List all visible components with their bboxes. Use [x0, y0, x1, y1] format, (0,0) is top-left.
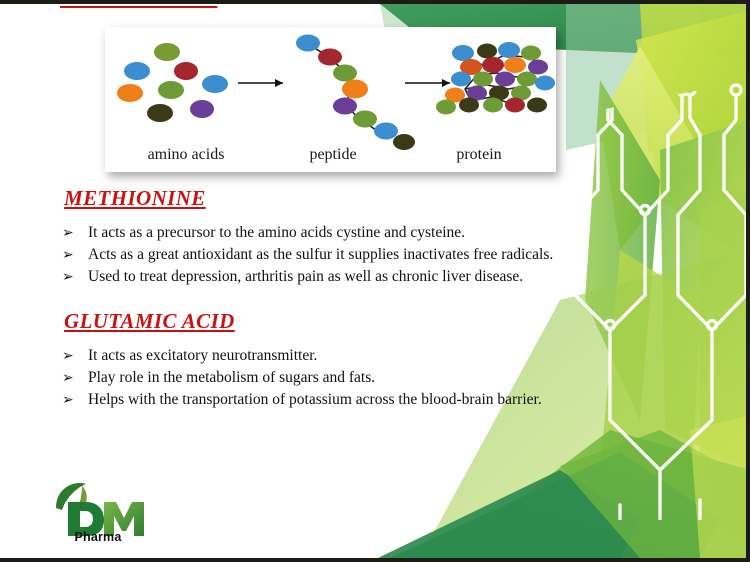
- list-item: ➢ Play role in the metabolism of sugars …: [62, 368, 542, 389]
- slide: AMINO ACIDS: [0, 0, 750, 562]
- arrow-right-2: [405, 79, 450, 87]
- bullet-list-glutamic-acid: ➢ It acts as excitatory neurotransmitter…: [62, 346, 542, 412]
- list-item: ➢ It acts as excitatory neurotransmitter…: [62, 346, 542, 367]
- list-item: ➢ Acts as a great antioxidant as the sul…: [62, 245, 553, 266]
- logo-dm-pharma: Pharma: [38, 478, 158, 552]
- list-item: ➢ It acts as a precursor to the amino ac…: [62, 223, 553, 244]
- bullet-text: Acts as a great antioxidant as the sulfu…: [88, 245, 553, 265]
- section-title-glutamic-acid: GLUTAMIC ACID: [64, 309, 235, 334]
- top-border: [0, 0, 750, 4]
- list-item: ➢ Used to treat depression, arthritis pa…: [62, 267, 553, 288]
- arrow-bullet-icon: ➢: [62, 347, 88, 367]
- peptide-beads: [296, 35, 415, 151]
- logo-wordmark: Pharma: [38, 530, 158, 544]
- right-border: [746, 0, 750, 562]
- caption-peptide: peptide: [263, 146, 403, 164]
- bullet-text: It acts as excitatory neurotransmitter.: [88, 346, 317, 366]
- caption-protein: protein: [405, 146, 553, 164]
- list-item: ➢ Helps with the transportation of potas…: [62, 390, 542, 411]
- arrow-bullet-icon: ➢: [62, 369, 88, 389]
- arrow-bullet-icon: ➢: [62, 268, 88, 288]
- bullet-text: Used to treat depression, arthritis pain…: [88, 267, 523, 287]
- section-title-methionine: METHIONINE: [64, 186, 206, 211]
- bullet-list-methionine: ➢ It acts as a precursor to the amino ac…: [62, 223, 553, 289]
- arrow-bullet-icon: ➢: [62, 224, 88, 244]
- amino-acid-beads: [117, 43, 228, 122]
- bullet-text: Helps with the transportation of potassi…: [88, 390, 542, 410]
- protein-synthesis-diagram: amino acids peptide protein: [105, 27, 556, 172]
- arrow-bullet-icon: ➢: [62, 391, 88, 411]
- arrow-bullet-icon: ➢: [62, 246, 88, 266]
- bullet-text: It acts as a precursor to the amino acid…: [88, 223, 465, 243]
- arrow-right-1: [238, 79, 283, 87]
- protein-beads: [436, 42, 555, 115]
- caption-amino-acids: amino acids: [111, 146, 261, 164]
- bullet-text: Play role in the metabolism of sugars an…: [88, 368, 375, 388]
